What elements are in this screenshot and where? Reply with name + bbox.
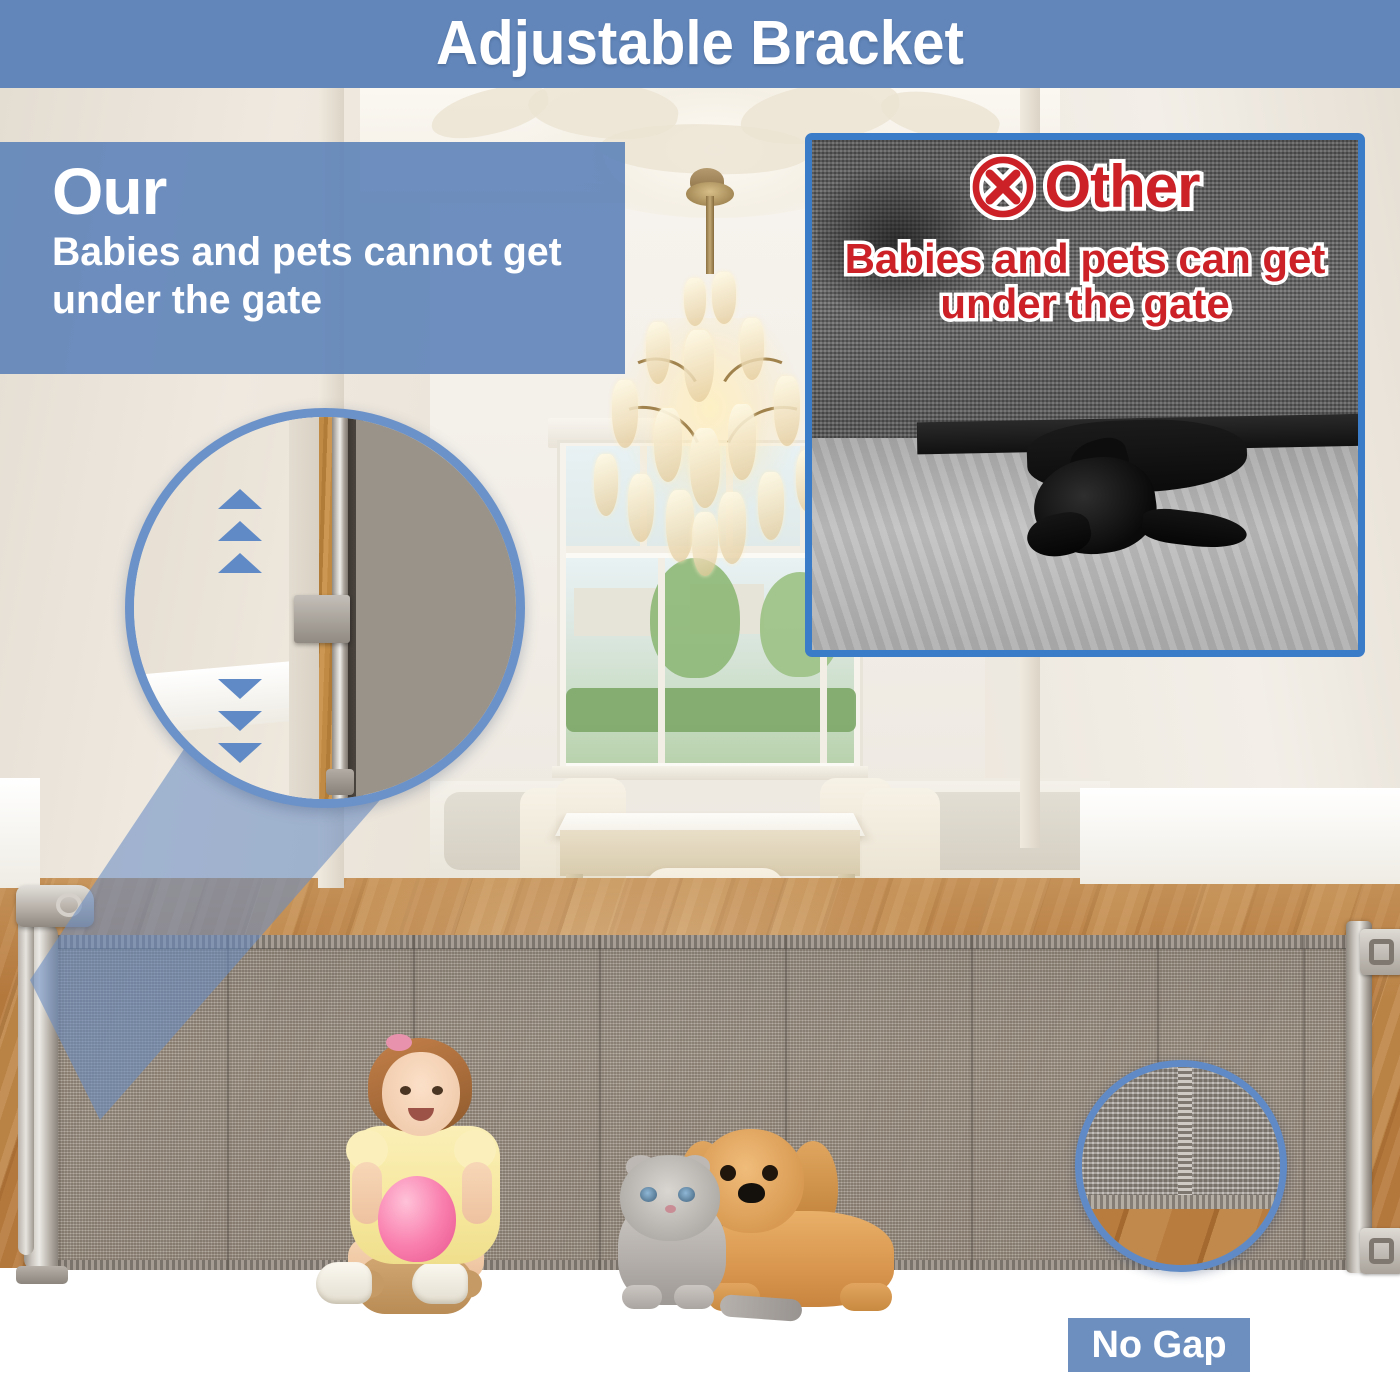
gate-housing-highlight (18, 917, 34, 1255)
gate-panel-seam (598, 935, 602, 1270)
no-gap-label: No Gap (1068, 1318, 1250, 1372)
detail-adjustable-slider[interactable] (294, 595, 350, 643)
toddler-eye (432, 1086, 443, 1095)
baseboard (0, 778, 40, 888)
gate-latch-bottom[interactable] (1360, 1228, 1400, 1274)
toddler-eye (400, 1086, 411, 1095)
kitten-paw (674, 1285, 714, 1309)
other-heading-row: Other (812, 154, 1358, 220)
chevron-down-icon (218, 679, 262, 699)
gate-bottom-bracket[interactable] (16, 1266, 68, 1284)
baseboard (1080, 788, 1400, 884)
toddler-face (382, 1052, 460, 1136)
detail-gate-mesh (356, 417, 525, 808)
nogap-floor (1082, 1209, 1280, 1272)
chandelier-crystal (712, 272, 736, 324)
x-circle-icon (970, 154, 1036, 220)
chevron-down-icon (218, 711, 262, 731)
hair-bow (386, 1034, 412, 1051)
chandelier-crystal (612, 380, 638, 448)
chandelier-crystal (718, 492, 746, 564)
magnifier-no-gap (1075, 1060, 1287, 1272)
chandelier-crystal (684, 278, 706, 326)
chandelier-crystal (666, 490, 694, 562)
chevron-up-icon (218, 521, 262, 541)
gate-panel-seam (970, 935, 974, 1270)
chandelier-crystal (740, 318, 764, 380)
gate-panel-seam (1302, 935, 1306, 1270)
magnifier-adjustable-bracket (125, 408, 525, 808)
kitten-eye (640, 1187, 657, 1202)
other-comparison-panel: Other Babies and pets can get under the … (805, 133, 1365, 657)
our-subtitle: Babies and pets cannot get under the gat… (52, 229, 592, 323)
puppy-eye (720, 1165, 736, 1181)
window-view-hedge (566, 688, 856, 732)
chandelier-crystal (758, 472, 784, 540)
puppy-eye (762, 1165, 778, 1181)
product-infographic: No Gap Our Babies and pets cannot get un… (0, 0, 1400, 1400)
chandelier-crystal (690, 428, 720, 508)
chandelier-crystal (594, 454, 618, 516)
chandelier-crystal (628, 474, 654, 542)
detail-bracket-foot (326, 769, 354, 795)
pink-balloon (378, 1176, 456, 1262)
kitten-head (620, 1155, 720, 1241)
toddler-with-balloon (300, 1030, 540, 1320)
gate-panel-seam (226, 935, 230, 1270)
chandelier-rod (706, 196, 714, 274)
chandelier-crystal (684, 330, 714, 402)
kitten-tail (719, 1294, 802, 1322)
header-banner: Adjustable Bracket (0, 0, 1400, 88)
other-title: Other (1044, 157, 1199, 217)
gate-latch-top[interactable] (1360, 929, 1400, 975)
toddler-shoe (316, 1262, 372, 1304)
chandelier-crystal (654, 408, 682, 482)
chandelier-crystal (646, 322, 670, 384)
nogap-bottom-rail (1082, 1195, 1280, 1209)
chevron-up-icon (218, 489, 262, 509)
chandelier-crystal (728, 404, 756, 480)
nogap-mesh-seam (1178, 1067, 1192, 1209)
chevron-down-icon (218, 743, 262, 763)
puppy-paw (840, 1283, 892, 1311)
kitten-and-puppy (612, 1125, 912, 1340)
toddler-shoe (412, 1262, 468, 1304)
kitten-paw (622, 1285, 662, 1309)
chevron-up-icon (218, 553, 262, 573)
chandelier-crystal (774, 376, 800, 446)
toddler-arm (462, 1162, 492, 1224)
other-subtitle: Babies and pets can get under the gate (812, 236, 1358, 327)
our-callout-box: Our Babies and pets cannot get under the… (0, 142, 625, 374)
our-title: Our (52, 158, 603, 225)
kitten-nose (665, 1205, 676, 1213)
kitten-eye (678, 1187, 695, 1202)
chandelier-crystal (692, 512, 718, 576)
page-title: Adjustable Bracket (42, 0, 1358, 88)
puppy-nose (738, 1183, 765, 1203)
